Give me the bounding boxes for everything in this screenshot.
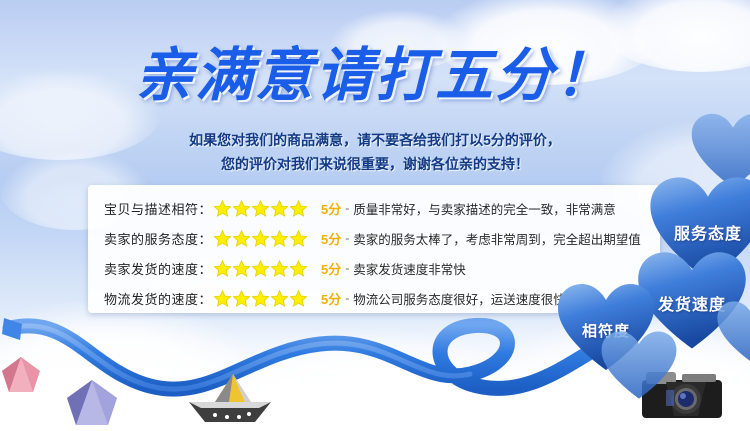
rating-score: 5分 [321,259,341,278]
star-icon [290,230,307,247]
pink-crystal-icon [0,355,42,395]
star-icon [290,200,307,217]
rating-score: 5分 [321,289,341,308]
subtitle: 如果您对我们的商品满意，请不要吝给我们打以5分的评价， 您的评价对我们来说很重要… [0,128,750,176]
star-icon [214,290,231,307]
star-rating [214,200,307,217]
rating-dash: - [345,261,349,275]
heart-icon [600,330,678,402]
star-icon [252,290,269,307]
rating-description: 卖家发货速度非常快 [353,259,466,278]
star-icon [271,260,288,277]
rating-score: 5分 [321,229,341,248]
rating-row: 卖家的服务态度： 5分 - 卖家的服务太棒了，考虑非常周到，完全超出期望值 [88,223,660,253]
star-icon [252,200,269,217]
subtitle-line-2: 您的评价对我们来说很重要，谢谢各位亲的支持！ [0,152,750,176]
heart-decoration [716,300,750,366]
star-icon [214,200,231,217]
star-icon [233,290,250,307]
star-icon [233,260,250,277]
rating-description: 卖家的服务太棒了，考虑非常周到，完全超出期望值 [353,229,641,248]
star-icon [271,230,288,247]
rating-row: 卖家发货的速度： 5分 - 卖家发货速度非常快 [88,253,660,283]
star-rating [214,260,307,277]
star-icon [214,260,231,277]
star-icon [290,260,307,277]
rating-row: 宝贝与描述相符： 5分 - 质量非常好，与卖家描述的完全一致，非常满意 [88,193,660,223]
star-rating [214,230,307,247]
rating-description: 物流公司服务态度很好，运送速度很快 [353,289,566,308]
star-icon [252,260,269,277]
star-icon [233,200,250,217]
heart-decoration [600,330,678,402]
heart-icon [716,300,750,364]
star-icon [271,200,288,217]
origami-paper-boat-icon [185,372,275,424]
rating-score: 5分 [321,199,341,218]
page-title: 亲满意请打五分！ [0,43,750,109]
rating-dash: - [345,201,349,215]
star-icon [271,290,288,307]
star-rating [214,290,307,307]
rating-label: 物流发货的速度： [104,289,212,308]
star-icon [214,230,231,247]
rating-banner: 亲满意请打五分！ 如果您对我们的商品满意，请不要吝给我们打以5分的评价， 您的评… [0,0,750,431]
rating-label: 宝贝与描述相符： [104,199,212,218]
rating-label: 卖家发货的速度： [104,259,212,278]
purple-crystal-icon [64,378,120,428]
rating-description: 质量非常好，与卖家描述的完全一致，非常满意 [353,199,616,218]
rating-dash: - [345,291,349,305]
badge-label: 服务态度 [674,220,742,244]
rating-label: 卖家的服务态度： [104,229,212,248]
star-icon [233,230,250,247]
rating-dash: - [345,231,349,245]
subtitle-line-1: 如果您对我们的商品满意，请不要吝给我们打以5分的评价， [0,128,750,152]
star-icon [252,230,269,247]
star-icon [290,290,307,307]
